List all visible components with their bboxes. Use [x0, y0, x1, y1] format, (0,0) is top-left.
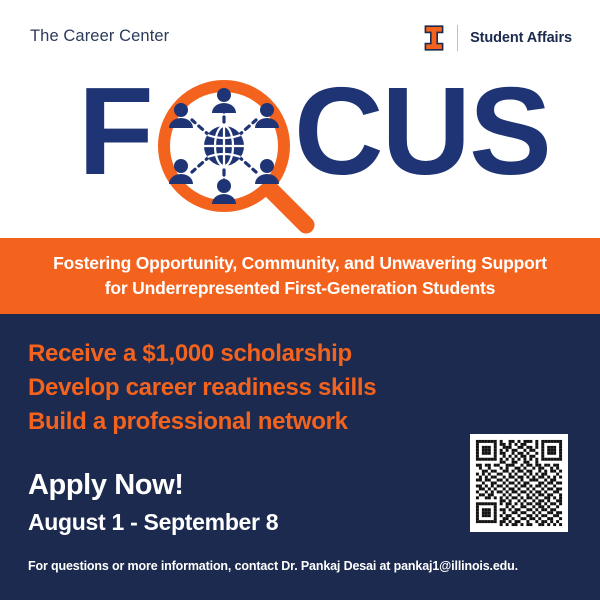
tagline-line-2: for Underrepresented First-Generation St…: [105, 276, 495, 301]
benefit-item: Receive a $1,000 scholarship: [28, 337, 448, 371]
qr-code-icon[interactable]: [470, 434, 568, 532]
focus-program-flyer: The Career Center Student Affairs F: [0, 0, 600, 600]
illinois-block-i-icon: [424, 25, 444, 51]
benefits-list: Receive a $1,000 scholarship Develop car…: [28, 337, 448, 439]
application-date-range: August 1 - September 8: [28, 511, 278, 534]
contact-information: For questions or more information, conta…: [28, 559, 518, 573]
flyer-header: The Career Center Student Affairs: [0, 0, 600, 70]
wordmark-letters-cus: CUS: [294, 70, 550, 194]
organization-name: The Career Center: [30, 27, 169, 46]
tagline-line-1: Fostering Opportunity, Community, and Un…: [53, 251, 547, 276]
benefit-item: Develop career readiness skills: [28, 371, 448, 405]
apply-now-headline: Apply Now!: [28, 471, 184, 500]
wordmark-letter-f: F: [78, 70, 152, 194]
student-affairs-label: Student Affairs: [470, 30, 572, 46]
qr-code[interactable]: [470, 434, 568, 532]
benefit-item: Build a professional network: [28, 405, 448, 439]
tagline-banner: Fostering Opportunity, Community, and Un…: [0, 238, 600, 314]
illinois-student-affairs-lockup: Student Affairs: [424, 24, 572, 52]
brand-divider: [457, 25, 458, 51]
focus-wordmark: F: [0, 62, 600, 238]
